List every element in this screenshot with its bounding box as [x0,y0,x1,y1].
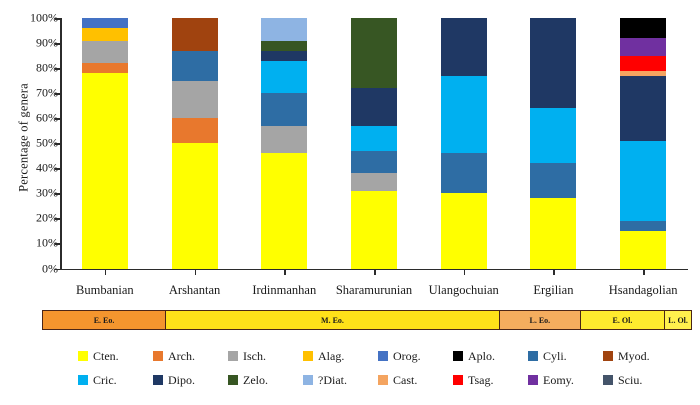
x-tick-label: Arshantan [169,283,220,298]
legend-label: Arch. [168,349,195,364]
stacked-bar[interactable] [261,18,307,268]
epoch-cell-lol: L. Ol. [665,311,691,329]
y-tick-label: 100% [30,11,58,26]
legend-swatch-icon [228,351,238,361]
legend-label: Cten. [93,349,119,364]
x-tick-mark [284,270,286,275]
bar-segment-cten[interactable] [441,193,487,268]
legend-label: Cast. [393,373,417,388]
legend-swatch-icon [153,351,163,361]
stacked-bar[interactable] [620,18,666,268]
bar-segment-isch[interactable] [172,81,218,119]
y-tick-mark [55,243,60,245]
legend-item-myod[interactable]: Myod. [603,349,678,364]
y-tick-mark [55,68,60,70]
bar-segment-isch[interactable] [351,173,397,191]
stacked-bar[interactable] [82,18,128,268]
legend-label: Zelo. [243,373,268,388]
legend-item-tsag[interactable]: Tsag. [453,373,528,388]
legend-row: Cten.Arch.Isch.Alag.Orog.Aplo.Cyli.Myod. [78,344,678,368]
legend-swatch-icon [78,351,88,361]
bar-segment-dipo[interactable] [620,76,666,141]
legend-swatch-icon [378,351,388,361]
bar-segment-diat[interactable] [261,18,307,41]
y-axis-line [60,18,62,270]
bar-segment-cyli[interactable] [261,93,307,126]
bar-segment-cric[interactable] [620,141,666,221]
legend-label: Orog. [393,349,421,364]
legend-swatch-icon [603,375,613,385]
bar-segment-myod[interactable] [172,18,218,51]
legend-label: Tsag. [468,373,494,388]
stacked-bar[interactable] [530,18,576,268]
bar-segment-isch[interactable] [261,126,307,154]
legend-item-dipo[interactable]: Dipo. [153,373,228,388]
x-tick-mark [553,270,555,275]
epoch-cell-leo: L. Eo. [500,311,581,329]
legend-item-eomy[interactable]: Eomy. [528,373,603,388]
stacked-bar[interactable] [441,18,487,268]
x-tick-label: Sharamurunian [336,283,412,298]
legend-item-orog[interactable]: Orog. [378,349,453,364]
bar-segment-eomy[interactable] [620,38,666,56]
x-tick-label: Irdinmanhan [252,283,316,298]
bar-segment-zelo[interactable] [351,18,397,88]
legend-swatch-icon [153,375,163,385]
bar-segment-cten[interactable] [351,191,397,269]
y-tick-mark [55,193,60,195]
bar-segment-arch[interactable] [172,118,218,143]
x-tick-mark [464,270,466,275]
legend-label: Aplo. [468,349,495,364]
y-tick-mark [55,118,60,120]
x-tick-label: Bumbanian [76,283,134,298]
legend-swatch-icon [228,375,238,385]
legend-swatch-icon [303,375,313,385]
bar-segment-cten[interactable] [82,73,128,268]
legend-label: Eomy. [543,373,574,388]
legend-swatch-icon [378,375,388,385]
legend-swatch-icon [453,375,463,385]
bar-segment-orog[interactable] [82,18,128,28]
bar-segment-cric[interactable] [261,61,307,94]
bar-segment-cten[interactable] [620,231,666,269]
y-tick-mark [55,168,60,170]
bar-segment-tsag[interactable] [620,56,666,71]
legend-label: Isch. [243,349,266,364]
bar-segment-cyli[interactable] [351,151,397,174]
legend-item-arch[interactable]: Arch. [153,349,228,364]
x-tick-mark [195,270,197,275]
legend-swatch-icon [453,351,463,361]
legend-swatch-icon [528,351,538,361]
legend-item-cric[interactable]: Cric. [78,373,153,388]
bar-segment-cten[interactable] [172,143,218,268]
bar-segment-cric[interactable] [351,126,397,151]
bar-segment-alag[interactable] [82,28,128,41]
legend-item-sciu[interactable]: Sciu. [603,373,678,388]
x-tick-mark [374,270,376,275]
legend-item-cyli[interactable]: Cyli. [528,349,603,364]
x-tick-label: Ergilian [533,283,573,298]
epoch-cell-eeo: E. Eo. [43,311,166,329]
y-axis-tick-labels: 0%10%20%30%40%50%60%70%80%90%100% [14,18,58,270]
bar-segment-aplo[interactable] [620,18,666,38]
bar-segment-dipo[interactable] [261,51,307,61]
chart-legend: Cten.Arch.Isch.Alag.Orog.Aplo.Cyli.Myod.… [78,344,678,392]
legend-swatch-icon [303,351,313,361]
legend-item-isch[interactable]: Isch. [228,349,303,364]
bar-segment-arch[interactable] [82,63,128,73]
legend-item-cast[interactable]: Cast. [378,373,453,388]
legend-label: Dipo. [168,373,195,388]
y-tick-mark [55,93,60,95]
bar-segment-isch[interactable] [82,41,128,64]
bar-segment-zelo[interactable] [261,41,307,51]
bar-segment-cyli[interactable] [620,221,666,231]
legend-swatch-icon [603,351,613,361]
bar-segment-cyli[interactable] [441,153,487,193]
legend-row: Cric.Dipo.Zelo.?Diat.Cast.Tsag.Eomy.Sciu… [78,368,678,392]
stacked-bar[interactable] [172,18,218,268]
legend-label: ?Diat. [318,373,347,388]
legend-label: Myod. [618,349,650,364]
bar-segment-cric[interactable] [530,108,576,163]
bar-segment-cyli[interactable] [172,51,218,81]
x-axis-tick-labels: BumbanianArshantanIrdinmanhanSharamuruni… [60,283,688,303]
bar-segment-cric[interactable] [441,76,487,154]
legend-item-cten[interactable]: Cten. [78,349,153,364]
legend-item-zelo[interactable]: Zelo. [228,373,303,388]
chart-area: Percentage of genera 0%10%20%30%40%50%60… [0,0,700,300]
legend-item-diat[interactable]: ?Diat. [303,373,378,388]
legend-label: Cyli. [543,349,567,364]
epoch-cell-meo: M. Eo. [166,311,500,329]
bar-segment-dipo[interactable] [441,18,487,76]
legend-item-alag[interactable]: Alag. [303,349,378,364]
epoch-cell-eol: E. Ol. [581,311,665,329]
y-tick-mark [55,218,60,220]
bar-segment-cyli[interactable] [530,163,576,198]
legend-item-aplo[interactable]: Aplo. [453,349,528,364]
bar-segment-dipo[interactable] [530,18,576,108]
legend-label: Sciu. [618,373,642,388]
x-tick-mark [105,270,107,275]
y-tick-mark [55,269,60,271]
y-tick-mark [55,43,60,45]
timescale-strip: E. Eo.M. Eo.L. Eo.E. Ol.L. Ol. [42,310,692,330]
x-tick-label: Hsandagolian [609,283,678,298]
legend-label: Alag. [318,349,344,364]
y-tick-mark [55,143,60,145]
bar-segment-cten[interactable] [261,153,307,268]
legend-swatch-icon [528,375,538,385]
bar-segment-cten[interactable] [530,198,576,268]
legend-label: Cric. [93,373,117,388]
plot-box [60,18,688,270]
legend-swatch-icon [78,375,88,385]
x-tick-label: Ulangochuian [429,283,499,298]
x-tick-mark [643,270,645,275]
stacked-bar[interactable] [351,18,397,268]
y-tick-mark [55,18,60,20]
bar-segment-dipo[interactable] [351,88,397,126]
